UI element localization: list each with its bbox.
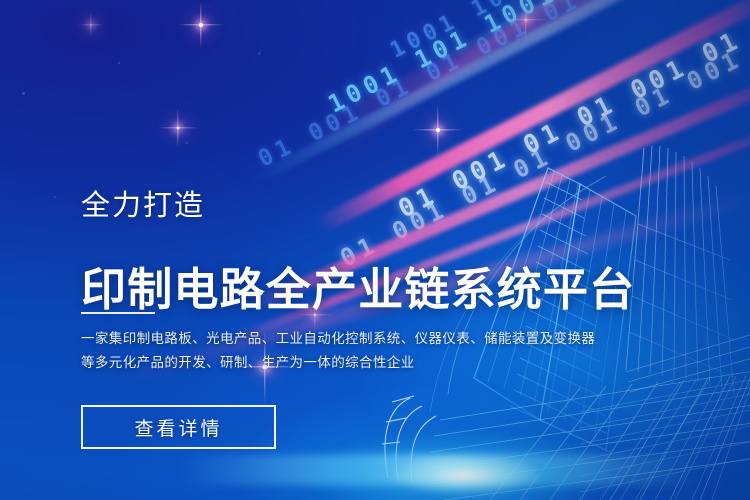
view-details-button[interactable]: 查看详情 <box>81 405 276 449</box>
description-line-1: 一家集印制电路板、光电产品、工业自动化控制系统、仪器仪表、储能装置及变换器 <box>81 327 595 351</box>
hero-banner: 1001 101 1001 01 1 001 101 1001 101 1001… <box>0 0 750 500</box>
title-divider <box>81 312 155 314</box>
view-details-label: 查看详情 <box>134 414 222 441</box>
description-line-2: 等多元化产品的开发、研制、生产为一体的综合性企业 <box>81 351 595 375</box>
description-text: 一家集印制电路板、光电产品、工业自动化控制系统、仪器仪表、储能装置及变换器 等多… <box>81 327 595 375</box>
eyebrow-text: 全力打造 <box>81 192 205 221</box>
page-title: 印制电路全产业链系统平台 <box>81 266 635 315</box>
